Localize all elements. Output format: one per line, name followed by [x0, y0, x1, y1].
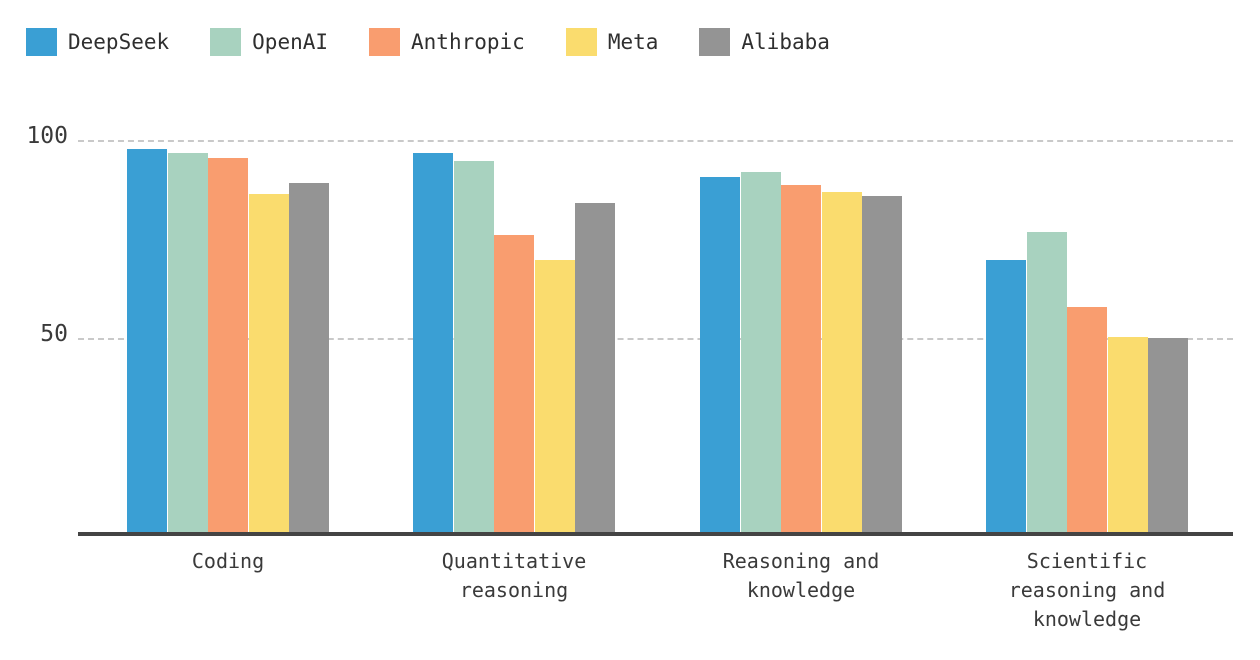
category-label-3: Scientific reasoning and knowledge [937, 547, 1237, 634]
bar-anthropic-group-3[interactable] [1067, 307, 1107, 534]
bar-deepseek-group-0[interactable] [127, 149, 167, 534]
bar-alibaba-group-3[interactable] [1148, 338, 1188, 534]
bar-deepseek-group-3[interactable] [986, 260, 1026, 534]
y-tick-label: 50 [8, 323, 68, 346]
bar-anthropic-group-0[interactable] [208, 158, 248, 534]
bar-anthropic-group-1[interactable] [494, 235, 534, 534]
category-label-0: Coding [78, 547, 378, 576]
bar-openai-group-1[interactable] [454, 161, 494, 534]
bar-openai-group-0[interactable] [168, 153, 208, 534]
plot-area: 10050 CodingQuantitative reasoningReason… [0, 0, 1260, 660]
bar-meta-group-2[interactable] [822, 192, 862, 534]
bar-chart: DeepSeekOpenAIAnthropicMetaAlibaba 10050… [0, 0, 1260, 660]
gridline-100 [78, 140, 1233, 142]
bar-anthropic-group-2[interactable] [781, 185, 821, 534]
bar-meta-group-3[interactable] [1108, 337, 1148, 534]
bar-alibaba-group-0[interactable] [289, 183, 329, 534]
bar-alibaba-group-1[interactable] [575, 203, 615, 534]
category-label-1: Quantitative reasoning [364, 547, 664, 605]
bar-meta-group-1[interactable] [535, 260, 575, 534]
bar-alibaba-group-2[interactable] [862, 196, 902, 534]
x-axis-line [78, 532, 1233, 536]
y-tick-label: 100 [8, 125, 68, 148]
category-label-2: Reasoning and knowledge [651, 547, 951, 605]
bar-openai-group-3[interactable] [1027, 232, 1067, 534]
bar-deepseek-group-1[interactable] [413, 153, 453, 534]
bar-openai-group-2[interactable] [741, 172, 781, 534]
bar-deepseek-group-2[interactable] [700, 177, 740, 534]
bar-meta-group-0[interactable] [249, 194, 289, 534]
